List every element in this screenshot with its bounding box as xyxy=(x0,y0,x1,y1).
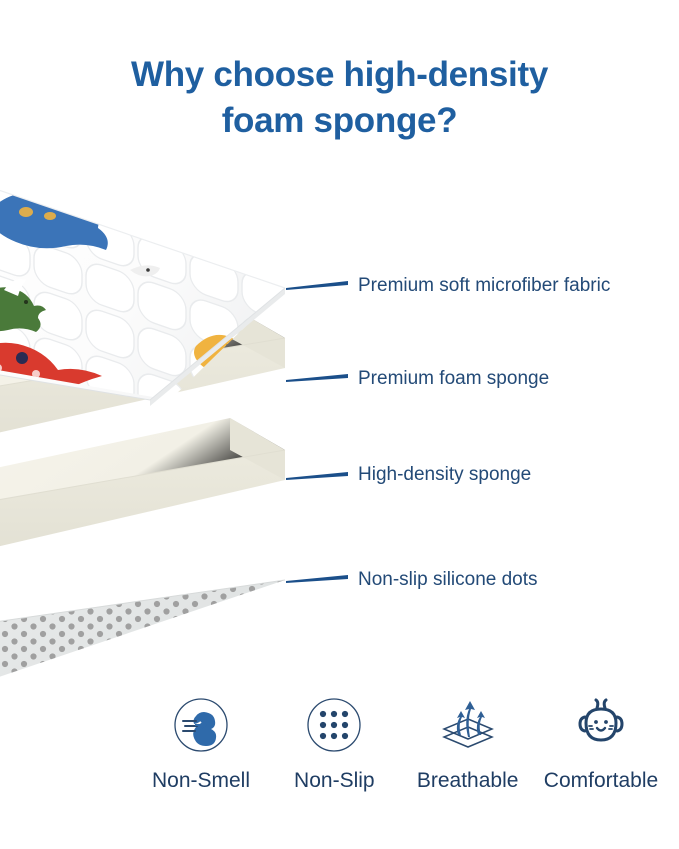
airflow-layers-icon xyxy=(437,694,499,756)
feature-label-non-slip: Non-Slip xyxy=(294,769,375,793)
page-title: Why choose high-density foam sponge? xyxy=(0,52,679,144)
page-title-line-1: Why choose high-density xyxy=(0,52,679,98)
product-infographic: Why choose high-density foam sponge? xyxy=(0,0,679,849)
silicone-dot-layer xyxy=(0,580,285,680)
dot-grid-icon xyxy=(303,694,365,756)
feature-label-comfortable: Comfortable xyxy=(544,769,658,793)
feature-label-breathable: Breathable xyxy=(417,769,519,793)
callout-label-silicone-dots: Non-slip silicone dots xyxy=(358,569,538,591)
feature-non-slip: Non-Slip xyxy=(269,694,399,793)
callout-label-high-density-sponge: High-density sponge xyxy=(358,464,531,486)
odor-waves-icon xyxy=(170,694,232,756)
high-density-foam-layer xyxy=(0,418,285,560)
feature-label-non-smell: Non-Smell xyxy=(152,769,250,793)
dinosaur-print-sun xyxy=(15,150,58,157)
feature-breathable: Breathable xyxy=(403,694,533,793)
feature-non-smell: Non-Smell xyxy=(136,694,266,793)
callout-label-premium-foam: Premium foam sponge xyxy=(358,368,549,390)
feature-comfortable: Comfortable xyxy=(536,694,666,793)
page-title-line-2: foam sponge? xyxy=(0,98,679,144)
product-illustration xyxy=(0,150,300,680)
callout-label-microfiber-fabric: Premium soft microfiber fabric xyxy=(358,275,610,297)
baby-face-icon xyxy=(570,694,632,756)
feature-row: Non-Smell Non-Slip xyxy=(136,694,666,804)
